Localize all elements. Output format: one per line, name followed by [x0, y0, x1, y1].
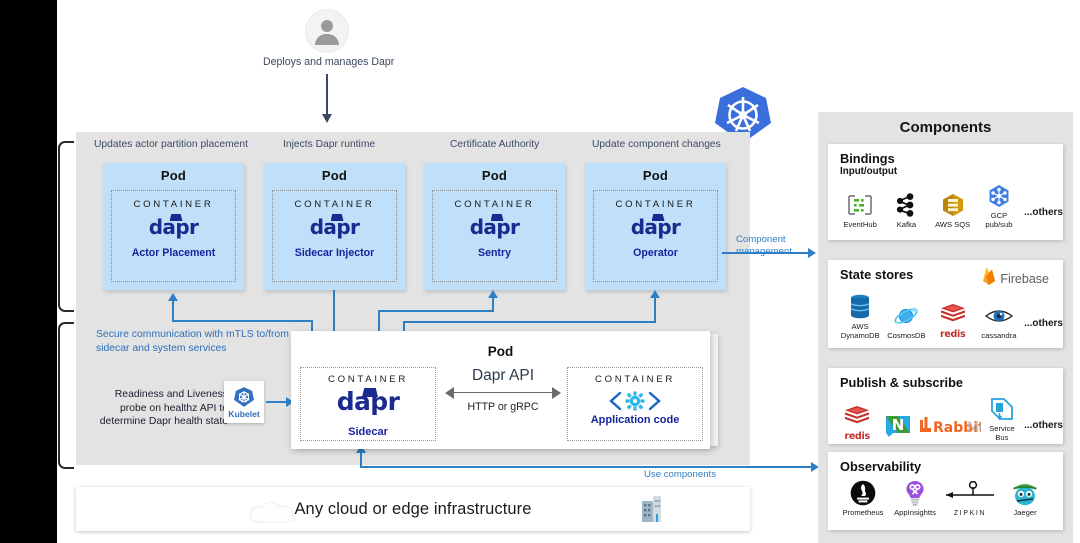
component-rabbitmq[interactable]: Rabbit MQ RabbitMQ [919, 411, 981, 442]
prometheus-icon [838, 478, 888, 508]
zipkin-icon [942, 479, 998, 509]
datacenter-building-icon [641, 495, 663, 528]
connector-pod1-horiz [172, 320, 313, 322]
infrastructure-label: Any cloud or edge infrastructure [294, 500, 531, 519]
dapr-logo-hat [491, 214, 504, 221]
dapr-logo: dapr [465, 217, 525, 243]
person-head-icon [321, 20, 333, 32]
dapr-logo: dapr [305, 217, 365, 243]
component-cassandra[interactable]: cassandra [977, 301, 1021, 341]
component-label: Jaeger [1000, 509, 1050, 518]
nats-icon: N [878, 411, 916, 441]
container-label: CONTAINER [112, 199, 235, 210]
pod-caption-sentry: Certificate Authority [450, 139, 539, 150]
person-icon [306, 10, 348, 52]
component-prometheus[interactable]: Prometheus [838, 478, 888, 518]
component-redis-state[interactable]: redis [931, 299, 975, 341]
label-component-management: Component management [736, 234, 806, 258]
card-bindings[interactable]: Bindings Input/output Ev [828, 144, 1063, 240]
card-publish-subscribe[interactable]: Publish & subscribe redis [828, 368, 1063, 444]
component-label: Service Bus [983, 425, 1021, 442]
dapr-logo: dapr [144, 217, 204, 243]
app-insights-bulb-icon [890, 478, 940, 508]
service-name: Sentry [433, 247, 556, 259]
pod-caption-sidecar-injector: Injects Dapr runtime [283, 139, 375, 150]
kubelet-node[interactable]: Kubelet [224, 381, 264, 423]
icon-row: redis N NATS [828, 390, 1063, 442]
cassandra-eye-icon [977, 301, 1021, 331]
redis-wordmark: redis [845, 431, 870, 442]
component-gcp-pubsub[interactable]: GCP pub/sub [977, 181, 1021, 229]
component-service-bus[interactable]: Service Bus [983, 394, 1021, 442]
container-box: CONTAINER dapr Sentry [432, 190, 557, 282]
card-subheading: Input/output [828, 166, 1063, 177]
component-nats[interactable]: N NATS [878, 411, 916, 442]
container-label: CONTAINER [433, 199, 556, 210]
container-box: CONTAINER dapr Actor Placement [111, 190, 236, 282]
components-title: Components [818, 112, 1073, 136]
component-label: ZIPKIN [942, 510, 998, 518]
card-heading: Bindings [828, 144, 1063, 166]
actor-arrow-head [322, 114, 332, 123]
icon-row: Prometheus [828, 474, 1063, 518]
component-cosmosdb[interactable]: CosmosDB [884, 301, 928, 341]
container-application-code: CONTAINER [567, 367, 703, 441]
pod-caption-actor-placement: Updates actor partition placement [94, 139, 248, 150]
azure-service-bus-icon [983, 394, 1021, 424]
component-aws-dynamodb[interactable]: AWS DynamoDB [838, 292, 882, 340]
application-code-name: Application code [568, 414, 702, 426]
component-label: cassandra [977, 332, 1021, 341]
pod-operator[interactable]: Pod CONTAINER dapr Operator [585, 163, 726, 290]
dapr-logo: dapr [328, 392, 408, 424]
service-name: Sidecar Injector [273, 247, 396, 259]
gcp-pubsub-icon [977, 181, 1021, 211]
infrastructure-bar: Any cloud or edge infrastructure [76, 487, 750, 531]
pod-label: Pod [585, 163, 726, 183]
code-gear-icon [608, 390, 662, 412]
dapr-logo-hat [362, 388, 378, 397]
connector-pod4-head [650, 290, 660, 298]
component-kafka[interactable]: Kafka [884, 190, 928, 230]
jaeger-icon [1000, 478, 1050, 508]
dapr-logo: dapr [626, 217, 686, 243]
label-use-components: Use components [644, 469, 716, 481]
component-app-insights[interactable]: AppInsightts [890, 478, 940, 518]
firebase-flame-icon [980, 266, 997, 291]
card-observability[interactable]: Observability Prometheus [828, 452, 1063, 530]
bidirectional-arrow-icon [443, 386, 563, 400]
redis-wordmark: redis [940, 329, 965, 340]
connector-use-components [360, 466, 813, 468]
dapr-logo-hat [170, 214, 183, 221]
icon-row: EventHub [828, 177, 1063, 229]
service-name: Actor Placement [112, 247, 235, 259]
dapr-logo-hat [652, 214, 665, 221]
card-heading: Publish & subscribe [828, 368, 1063, 390]
container-label: CONTAINER [594, 199, 717, 210]
aws-sqs-icon [931, 190, 975, 220]
connector-pod4-horiz [403, 321, 656, 323]
connector-pod4-vert [654, 298, 656, 322]
others-label-state-stores: ...others [1024, 318, 1063, 340]
azure-eventhub-icon [838, 190, 882, 220]
sidecar-name: Sidecar [301, 426, 435, 438]
cosmosdb-icon [884, 301, 928, 331]
pod-label: Pod [264, 163, 405, 183]
others-label-bindings: ...others [1024, 207, 1063, 229]
container-sidecar: CONTAINER dapr Sidecar [300, 367, 436, 441]
redis-icon [931, 299, 975, 329]
dapr-api-block: Dapr API HTTP or gRPC [443, 367, 563, 413]
container-label: CONTAINER [273, 199, 396, 210]
card-state-stores[interactable]: State stores Firebase [828, 260, 1063, 348]
component-aws-sqs[interactable]: AWS SQS [931, 190, 975, 230]
others-label-pubsub: ...others [1024, 420, 1063, 442]
diagram-canvas: Deploys and manages Dapr Updates actor p… [0, 0, 1080, 543]
component-zipkin[interactable]: ZIPKIN [942, 479, 998, 518]
connector-pod3-head [488, 290, 498, 298]
component-label: redis [931, 330, 975, 341]
pod-label: Pod [424, 163, 565, 183]
cloud-icon [246, 496, 302, 529]
dapr-logo-hat [331, 214, 344, 221]
component-redis-pubsub[interactable]: redis [838, 401, 876, 443]
component-label: AWS DynamoDB [838, 323, 882, 340]
components-panel: Components Bindings Input/output [818, 112, 1073, 543]
component-label: GCP pub/sub [977, 212, 1021, 229]
dapr-api-title: Dapr API [443, 367, 563, 385]
firebase-label: Firebase [1000, 272, 1049, 286]
rabbitmq-icon: Rabbit MQ [919, 411, 981, 441]
dapr-api-protocols: HTTP or gRPC [443, 401, 563, 413]
firebase-badge[interactable]: Firebase [980, 266, 1049, 291]
pod-sidecar-injector[interactable]: Pod CONTAINER dapr Sidecar Injector [264, 163, 405, 290]
connector-pod3-horiz [378, 310, 494, 312]
kafka-icon [884, 190, 928, 220]
connector-pod1-vert [172, 301, 174, 321]
component-label: Kafka [884, 221, 928, 230]
component-eventhub[interactable]: EventHub [838, 190, 882, 230]
bracket-system-services [58, 141, 74, 312]
pod-sentry[interactable]: Pod CONTAINER dapr Sentry [424, 163, 565, 290]
redis-icon [838, 401, 876, 431]
container-label: CONTAINER [301, 374, 435, 385]
pod-actor-placement[interactable]: Pod CONTAINER dapr Actor Placement [103, 163, 244, 290]
container-box: CONTAINER dapr Operator [593, 190, 718, 282]
person-body-icon [315, 34, 339, 45]
kubernetes-helm-icon [233, 386, 255, 408]
component-label: EventHub [838, 221, 882, 230]
connector-component-management-head [808, 248, 816, 258]
svg-text:MQ: MQ [967, 420, 981, 436]
pod-caption-operator: Update component changes [592, 139, 721, 150]
note-health-probe: Readiness and Liveness probe on healthz … [98, 388, 228, 429]
container-box: CONTAINER dapr Sidecar Injector [272, 190, 397, 282]
card-heading: Observability [828, 452, 1063, 474]
service-name: Operator [594, 247, 717, 259]
aws-dynamodb-icon [838, 292, 882, 322]
component-label: AWS SQS [931, 221, 975, 230]
pod-label: Pod [103, 163, 244, 183]
note-mtls: Secure communication with mTLS to/from s… [96, 328, 292, 355]
connector-pod1-head [168, 293, 178, 301]
app-pod[interactable]: Pod CONTAINER dapr Sidecar Dapr API HTTP… [291, 331, 710, 449]
component-label: Prometheus [838, 509, 888, 518]
svg-text:N: N [891, 416, 904, 434]
component-label: AppInsightts [890, 509, 940, 518]
bracket-application-pod [58, 322, 74, 469]
actor-arrow-line [326, 74, 328, 118]
app-pod-label: Pod [291, 331, 710, 359]
actor-caption: Deploys and manages Dapr [263, 56, 394, 68]
container-label: CONTAINER [568, 374, 702, 385]
component-label: CosmosDB [884, 332, 928, 341]
component-jaeger[interactable]: Jaeger [1000, 478, 1050, 518]
connector-use-components-riser [360, 452, 362, 467]
kubelet-label: Kubelet [228, 409, 260, 419]
